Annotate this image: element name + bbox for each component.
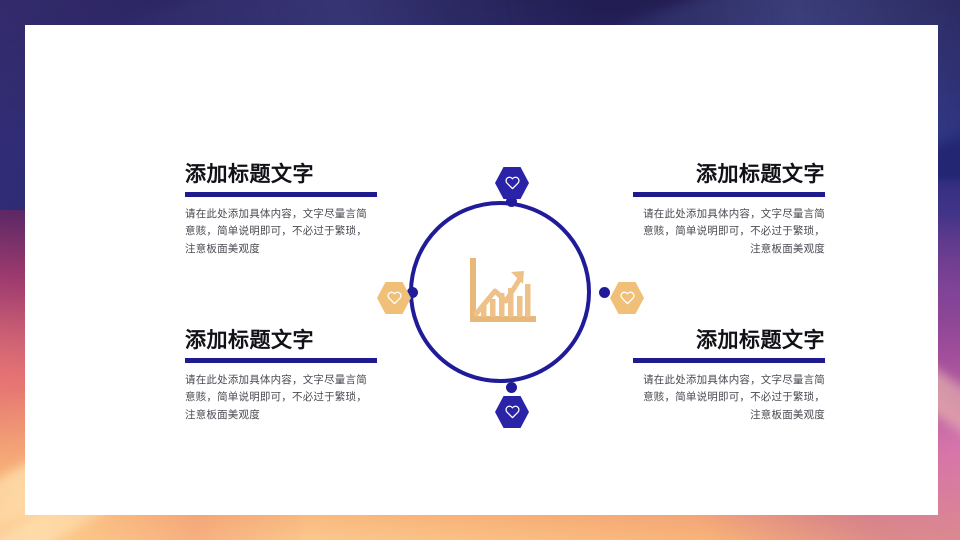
block-underline-bottom-right <box>633 358 825 363</box>
block-body-bottom-right: 请在此处添加具体内容，文字尽量言简意赅，简单说明即可，不必过于繁琐，注意板面美观… <box>633 372 825 424</box>
heart-icon <box>505 176 520 190</box>
content-block-bottom-left[interactable]: 添加标题文字 请在此处添加具体内容，文字尽量言简意赅，简单说明即可，不必过于繁琐… <box>185 329 377 424</box>
block-title-bottom-left: 添加标题文字 <box>185 329 377 353</box>
hex-badge-top[interactable] <box>495 166 529 200</box>
block-title-top-right: 添加标题文字 <box>633 163 825 187</box>
heart-icon <box>387 291 402 305</box>
content-block-bottom-right[interactable]: 添加标题文字 请在此处添加具体内容，文字尽量言简意赅，简单说明即可，不必过于繁琐… <box>633 329 825 424</box>
center-circle-diagram <box>377 155 645 435</box>
block-underline-bottom-left <box>185 358 377 363</box>
block-title-top-left: 添加标题文字 <box>185 163 377 187</box>
content-block-top-right[interactable]: 添加标题文字 请在此处添加具体内容，文字尽量言简意赅，简单说明即可，不必过于繁琐… <box>633 163 825 258</box>
slide-content-card: 添加标题文字 请在此处添加具体内容，文字尽量言简意赅，简单说明即可，不必过于繁琐… <box>25 25 938 515</box>
hex-badge-right[interactable] <box>610 281 644 315</box>
heart-icon <box>620 291 635 305</box>
diagram-node-right[interactable] <box>599 287 610 298</box>
block-body-bottom-left: 请在此处添加具体内容，文字尽量言简意赅，简单说明即可，不必过于繁琐，注意板面美观… <box>185 372 377 424</box>
block-title-bottom-right: 添加标题文字 <box>633 329 825 353</box>
bar-chart-growth-icon <box>465 257 537 327</box>
hex-badge-left[interactable] <box>377 281 411 315</box>
block-body-top-left: 请在此处添加具体内容，文字尽量言简意赅，简单说明即可，不必过于繁琐，注意板面美观… <box>185 206 377 258</box>
heart-icon <box>505 405 520 419</box>
hex-badge-bottom[interactable] <box>495 395 529 429</box>
content-block-top-left[interactable]: 添加标题文字 请在此处添加具体内容，文字尽量言简意赅，简单说明即可，不必过于繁琐… <box>185 163 377 258</box>
block-body-top-right: 请在此处添加具体内容，文字尽量言简意赅，简单说明即可，不必过于繁琐，注意板面美观… <box>633 206 825 258</box>
block-underline-top-right <box>633 192 825 197</box>
block-underline-top-left <box>185 192 377 197</box>
diagram-node-bottom[interactable] <box>506 382 517 393</box>
